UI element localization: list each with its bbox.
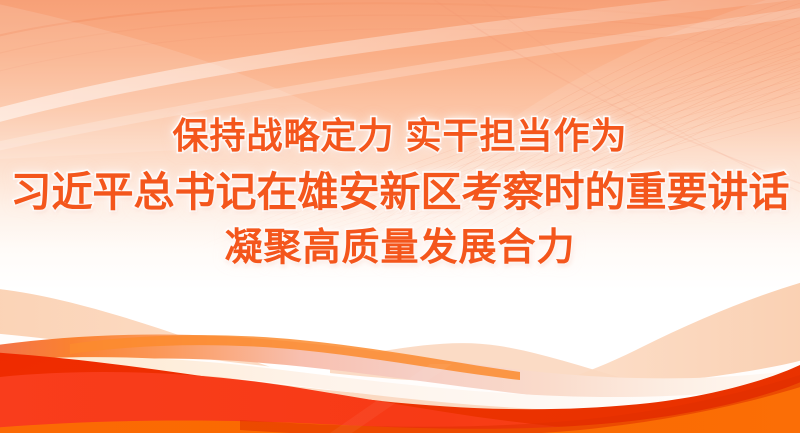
banner-title-block: 保持战略定力 实干担当作为 习近平总书记在雄安新区考察时的重要讲话 凝聚高质量发… <box>0 118 800 267</box>
wave-gradient-band <box>0 334 800 402</box>
wave-peach-center <box>330 343 800 433</box>
wave-peach-right <box>470 280 800 433</box>
wave-red-bright <box>0 372 800 433</box>
wave-red-deep <box>0 352 800 433</box>
wave-cream-thin <box>0 357 800 411</box>
wave-light-streak <box>330 364 452 433</box>
banner-graphic: 保持战略定力 实干担当作为 习近平总书记在雄安新区考察时的重要讲话 凝聚高质量发… <box>0 0 800 433</box>
title-line-1: 保持战略定力 实干担当作为 <box>0 118 800 154</box>
wave-orange-base <box>0 378 800 433</box>
wave-orange-accent <box>70 335 520 380</box>
title-line-3: 凝聚高质量发展合力 <box>0 229 800 267</box>
wave-peach-left <box>0 288 460 433</box>
wave-red-edge <box>240 372 800 433</box>
title-line-2: 习近平总书记在雄安新区考察时的重要讲话 <box>0 172 800 213</box>
wave-white-sliver <box>0 333 800 402</box>
